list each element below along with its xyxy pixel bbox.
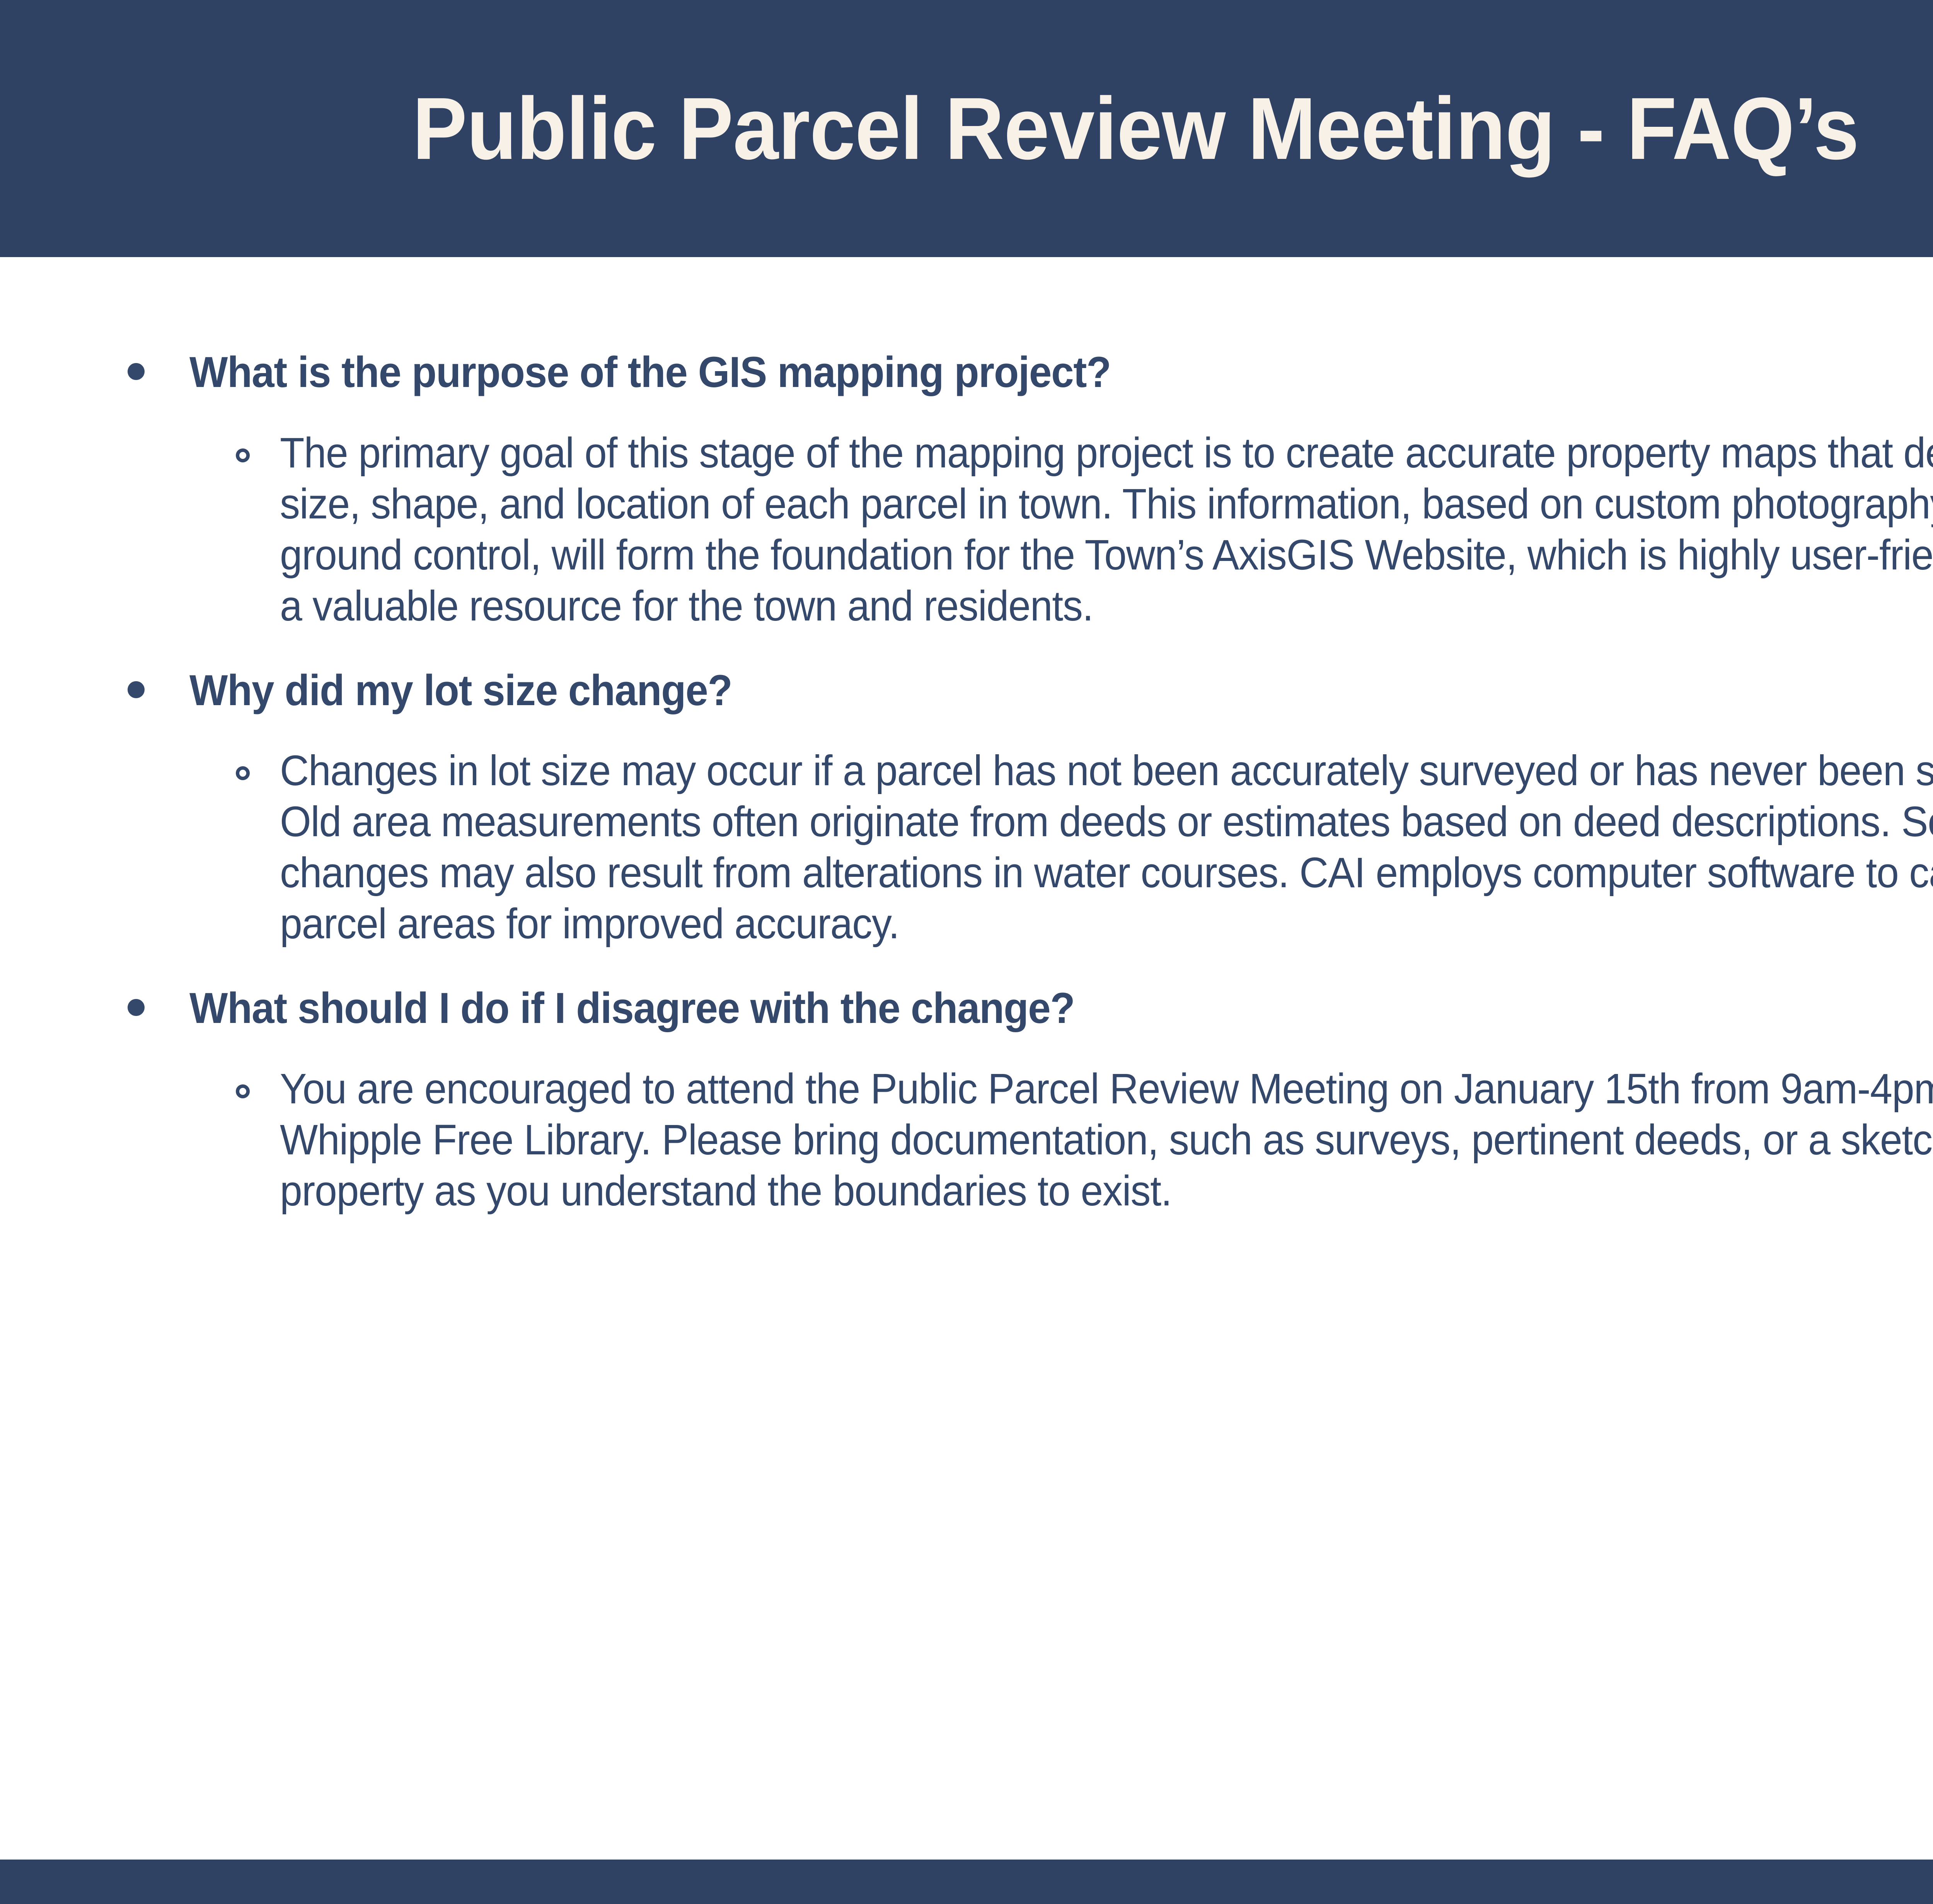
faq-item: Why did my lot size change? Changes in l… <box>93 664 1933 950</box>
faq-answer-row: Changes in lot size may occur if a parce… <box>93 745 1933 949</box>
faq-question-row: What should I do if I disagree with the … <box>93 982 1933 1035</box>
header-bar: Public Parcel Review Meeting - FAQ’s <box>0 0 1933 257</box>
faq-list: What is the purpose of the GIS mapping p… <box>93 346 1933 1217</box>
faq-item: What should I do if I disagree with the … <box>93 982 1933 1217</box>
faq-question-row: What is the purpose of the GIS mapping p… <box>93 346 1933 399</box>
faq-content-area: What is the purpose of the GIS mapping p… <box>0 257 1933 1860</box>
hollow-circle-bullet-icon <box>236 766 250 780</box>
faq-answer-text: The primary goal of this stage of the ma… <box>280 428 1933 632</box>
slide: Public Parcel Review Meeting - FAQ’s Wha… <box>0 0 1933 1904</box>
hollow-circle-bullet-icon <box>236 1084 250 1098</box>
faq-answer-text: You are encouraged to attend the Public … <box>280 1064 1933 1217</box>
faq-question-row: Why did my lot size change? <box>93 664 1933 717</box>
faq-question-text: What is the purpose of the GIS mapping p… <box>189 346 1933 399</box>
faq-question-text: What should I do if I disagree with the … <box>189 982 1933 1035</box>
filled-circle-bullet-icon <box>128 999 145 1016</box>
faq-item: What is the purpose of the GIS mapping p… <box>93 346 1933 632</box>
filled-circle-bullet-icon <box>128 681 145 698</box>
page-title: Public Parcel Review Meeting - FAQ’s <box>369 85 1902 173</box>
faq-answer-row: The primary goal of this stage of the ma… <box>93 428 1933 632</box>
faq-question-text: Why did my lot size change? <box>189 664 1933 717</box>
filled-circle-bullet-icon <box>128 363 145 380</box>
hollow-circle-bullet-icon <box>236 448 250 462</box>
faq-answer-row: You are encouraged to attend the Public … <box>93 1064 1933 1217</box>
footer-bar <box>0 1860 1933 1904</box>
faq-answer-text: Changes in lot size may occur if a parce… <box>280 745 1933 949</box>
